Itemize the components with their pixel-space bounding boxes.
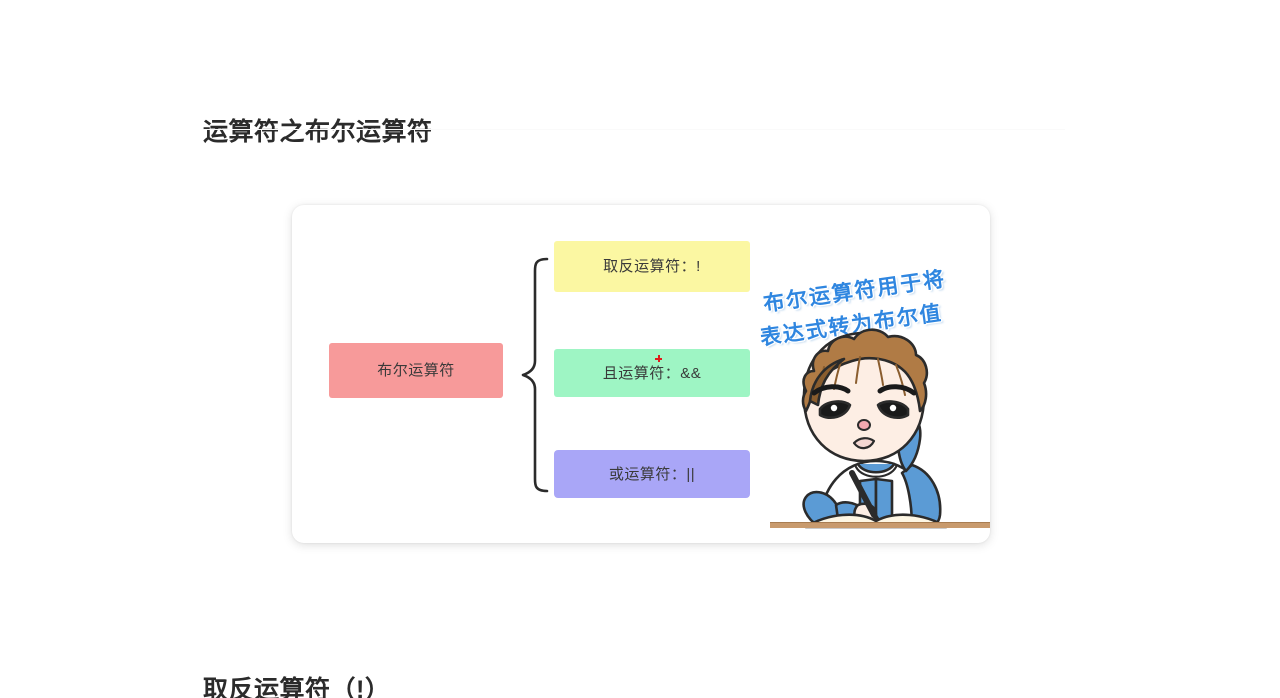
red-crosshair-cursor-icon	[655, 355, 662, 362]
mindmap-node-or-label: 或运算符：||	[609, 467, 695, 482]
page-root: 运算符之布尔运算符 布尔运算符 取反运算符：! 且运算符：&& 或运算符：|| …	[0, 0, 1280, 698]
handwritten-caption-line-1: 布尔运算符用于将	[761, 263, 947, 318]
mindmap-node-not-operator[interactable]: 取反运算符：!	[554, 241, 750, 292]
page-title: 运算符之布尔运算符	[203, 116, 433, 148]
curly-brace-connector	[505, 255, 553, 495]
mindmap-root-label: 布尔运算符	[377, 363, 455, 378]
heading-divider	[203, 129, 1065, 130]
section-title-not-operator: 取反运算符（!）	[203, 674, 390, 698]
mindmap-node-not-label: 取反运算符：!	[603, 259, 701, 274]
mindmap-root-node[interactable]: 布尔运算符	[329, 343, 503, 398]
mindmap-node-or-operator[interactable]: 或运算符：||	[554, 450, 750, 498]
boy-studying-illustration	[762, 315, 990, 543]
diagram-card: 布尔运算符 取反运算符：! 且运算符：&& 或运算符：|| 布尔运算符用于将 表…	[292, 205, 990, 543]
mindmap-node-and-label: 且运算符：&&	[603, 366, 702, 381]
desk-line	[770, 522, 990, 528]
mindmap-node-and-operator[interactable]: 且运算符：&&	[554, 349, 750, 397]
